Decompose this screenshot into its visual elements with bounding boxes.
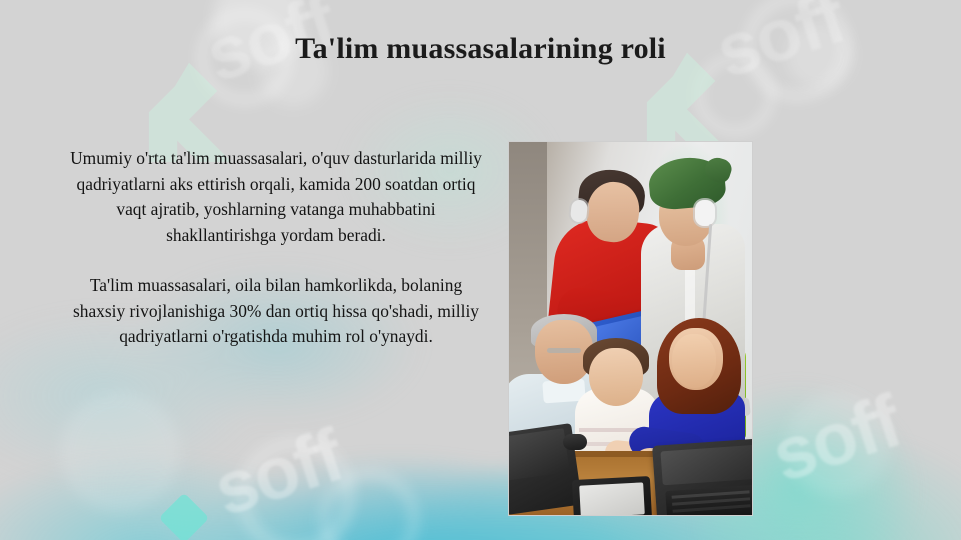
person-toddler-head [589, 348, 643, 406]
laptop-right-screen [660, 445, 752, 485]
bokeh-blob [786, 392, 890, 496]
computer-mouse [563, 434, 587, 450]
person-older-man-brow [547, 348, 581, 353]
bokeh-ring [318, 468, 420, 540]
slide-photo [508, 141, 753, 516]
slide-body-text: Umumiy o'rta ta'lim muassasalari, o'quv … [62, 146, 490, 350]
photo-scene [509, 142, 752, 515]
brand-logo-watermark [152, 486, 216, 540]
laptop-left-screen [509, 428, 570, 480]
white-headphone-earcup-icon [695, 200, 715, 226]
slide-title: Ta'lim muassasalarining roli [0, 30, 961, 68]
bokeh-ring [236, 436, 356, 540]
laptop-right-keyboard [665, 485, 752, 515]
paragraph-spacer [62, 248, 490, 273]
bokeh-blob [60, 392, 180, 512]
slide-canvas: soff soff soff soff Ta'lim muassasalarin… [0, 0, 961, 540]
tablet-on-table [572, 476, 652, 515]
paragraph-2: Ta'lim muassasalari, oila bilan hamkorli… [62, 273, 490, 350]
watermark-text: soff [204, 412, 352, 532]
laptop-right [652, 438, 752, 515]
laptop-keyboard-keys [672, 490, 750, 498]
person-woman-in-blue-face [672, 334, 716, 388]
tablet-on-table-screen [579, 482, 645, 515]
paragraph-1: Umumiy o'rta ta'lim muassasalari, o'quv … [62, 146, 490, 248]
watermark-text: soff [762, 378, 910, 498]
